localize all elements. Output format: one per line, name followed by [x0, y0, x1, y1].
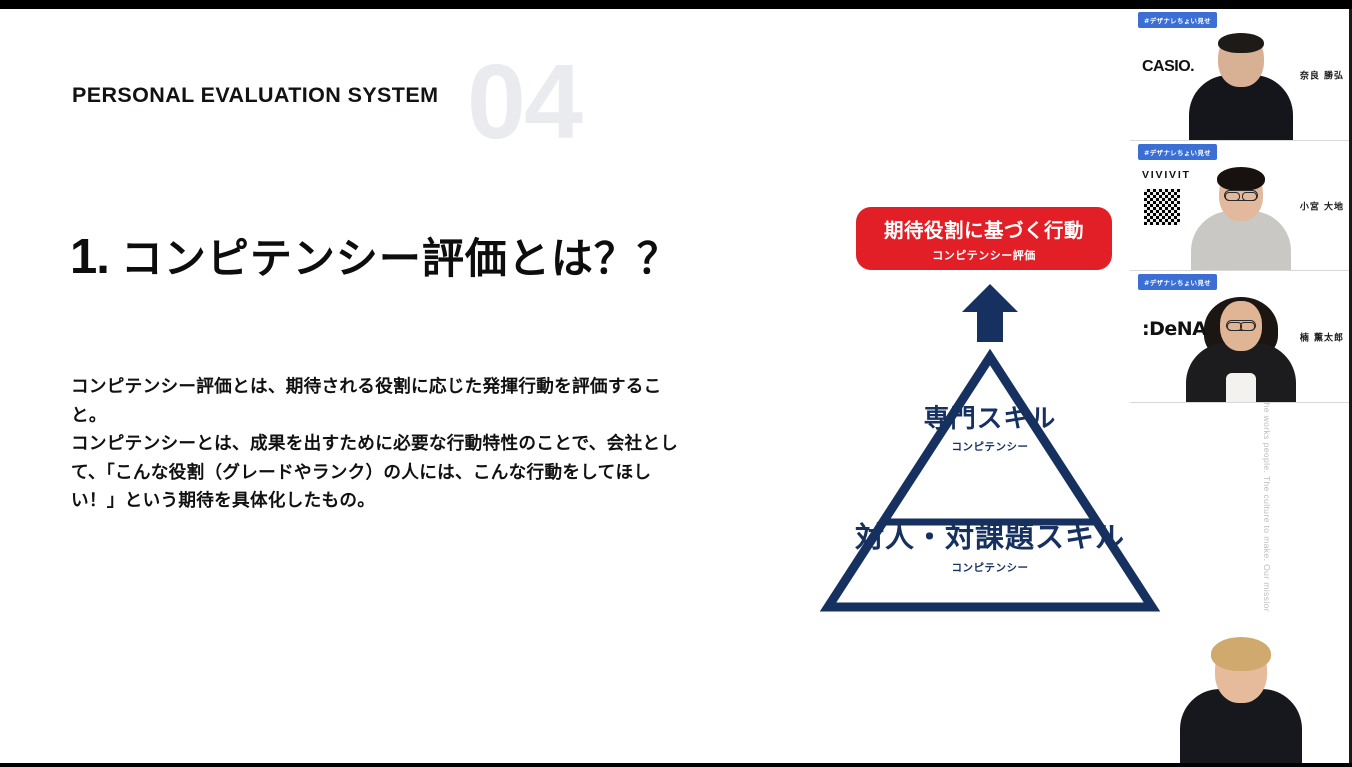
participant-name: 楠 薫太郎 [1300, 331, 1344, 344]
letterbox-bottom-bar [0, 763, 1352, 767]
tile-badge: #デザナレちょい見せ [1138, 274, 1217, 290]
slide-body-text: コンピテンシー評価とは、期待される役割に応じた発揮行動を評価すること。 コンピテ… [71, 373, 691, 516]
upward-arrow-icon [960, 284, 1020, 347]
pyramid-shape [820, 349, 1160, 619]
expected-behavior-callout: 期待役割に基づく行動 コンピテンシー評価 [856, 207, 1112, 270]
participant-video [1191, 41, 1291, 141]
slide-section-title: PERSONAL EVALUATION SYSTEM [72, 85, 438, 107]
video-tile[interactable]: #デザナレちょい見せ VIVIVIT 小宮 大地 [1130, 141, 1352, 271]
video-tile[interactable]: #デザナレちょい見せ :DeNA 楠 薫太郎 [1130, 271, 1352, 403]
heading-number: 1. [70, 229, 109, 285]
video-tile[interactable] [1130, 612, 1352, 763]
pyramid-level-lower: 対人・対課題スキル コンピテンシー [820, 514, 1160, 575]
qr-code-icon [1142, 187, 1182, 227]
slide-heading: 1. コンピテンシー評価とは？？ [70, 225, 680, 286]
callout-subtitle: コンピテンシー評価 [932, 247, 1036, 263]
company-logo-dena: :DeNA [1142, 318, 1206, 340]
company-logo-casio: CASIO. [1142, 58, 1194, 76]
screen-capture: 04 PERSONAL EVALUATION SYSTEM 1. コンピテンシー… [0, 0, 1352, 767]
participant-video [1181, 633, 1301, 763]
pyramid-upper-sublabel: コンピテンシー [820, 439, 1160, 454]
participant-video [1186, 293, 1296, 403]
slide-eyebrow: 04 PERSONAL EVALUATION SYSTEM [72, 71, 438, 151]
pyramid-lower-sublabel: コンピテンシー [820, 560, 1160, 575]
tile-badge: #デザナレちょい見せ [1138, 12, 1217, 28]
slide-section-number: 04 [467, 49, 581, 155]
tile-badge: #デザナレちょい見せ [1138, 144, 1217, 160]
pyramid-lower-label: 対人・対課題スキル [820, 514, 1160, 556]
participant-name: 奈良 勝弘 [1300, 69, 1344, 82]
video-tile[interactable]: #デザナレちょい見せ CASIO. 奈良 勝弘 [1130, 9, 1352, 141]
heading-text: コンピテンシー評価とは？？ [121, 225, 680, 286]
video-tile-column: #デザナレちょい見せ CASIO. 奈良 勝弘 #デザナレちょい見せ VIVIV… [1130, 0, 1352, 767]
participant-video [1191, 171, 1291, 271]
company-logo-vivivit: VIVIVIT [1142, 169, 1191, 227]
pyramid-upper-label: 専門スキル [820, 398, 1160, 435]
participant-name: 小宮 大地 [1300, 200, 1344, 213]
callout-title: 期待役割に基づく行動 [884, 214, 1084, 243]
competency-diagram: 期待役割に基づく行動 コンピテンシー評価 専門スキル コンピテンシー 対人・対課… [820, 194, 1160, 614]
pyramid-level-upper: 専門スキル コンピテンシー [820, 398, 1160, 454]
